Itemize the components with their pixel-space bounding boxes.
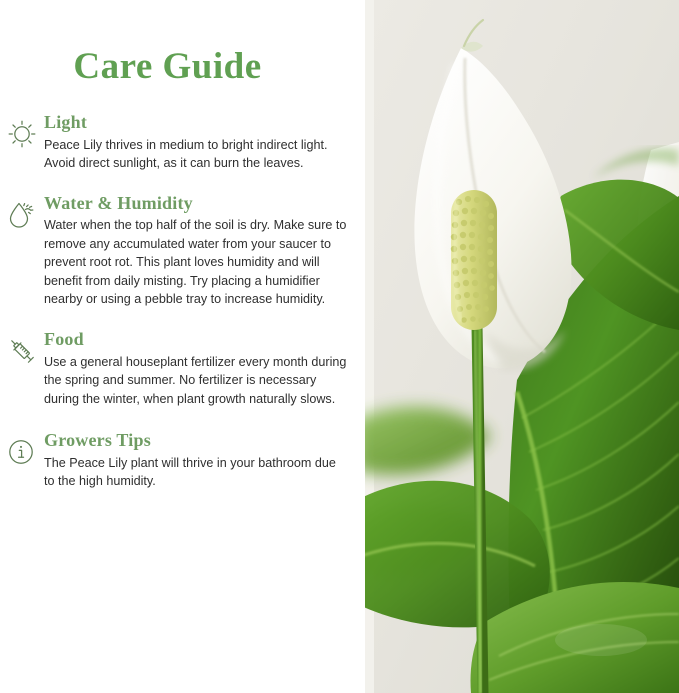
page-title: Care Guide <box>0 48 335 85</box>
section-heading: Growers Tips <box>44 430 347 451</box>
water-droplet-icon <box>4 197 40 233</box>
care-guide-panel: Care Guide Lig <box>0 0 365 693</box>
peace-lily-illustration <box>365 0 679 693</box>
section-body: Water when the top half of the soil is d… <box>44 216 347 309</box>
care-guide-page: Care Guide Lig <box>0 0 679 693</box>
section-body: Use a general houseplant fertilizer ever… <box>44 353 347 409</box>
info-icon <box>4 434 40 470</box>
peace-lily-photo <box>365 0 679 693</box>
section-body: Peace Lily thrives in medium to bright i… <box>44 136 347 173</box>
care-section-food: Food Use a general houseplant fertilizer… <box>0 329 365 408</box>
care-sections-list: Light Peace Lily thrives in medium to br… <box>0 112 365 491</box>
section-heading: Food <box>44 329 347 350</box>
sun-icon <box>4 116 40 152</box>
section-body: The Peace Lily plant will thrive in your… <box>44 454 347 491</box>
syringe-icon <box>4 333 40 369</box>
section-heading: Water & Humidity <box>44 193 347 214</box>
section-heading: Light <box>44 112 347 133</box>
care-section-light: Light Peace Lily thrives in medium to br… <box>0 112 365 173</box>
care-section-growers-tips: Growers Tips The Peace Lily plant will t… <box>0 430 365 491</box>
care-section-water-humidity: Water & Humidity Water when the top half… <box>0 193 365 309</box>
